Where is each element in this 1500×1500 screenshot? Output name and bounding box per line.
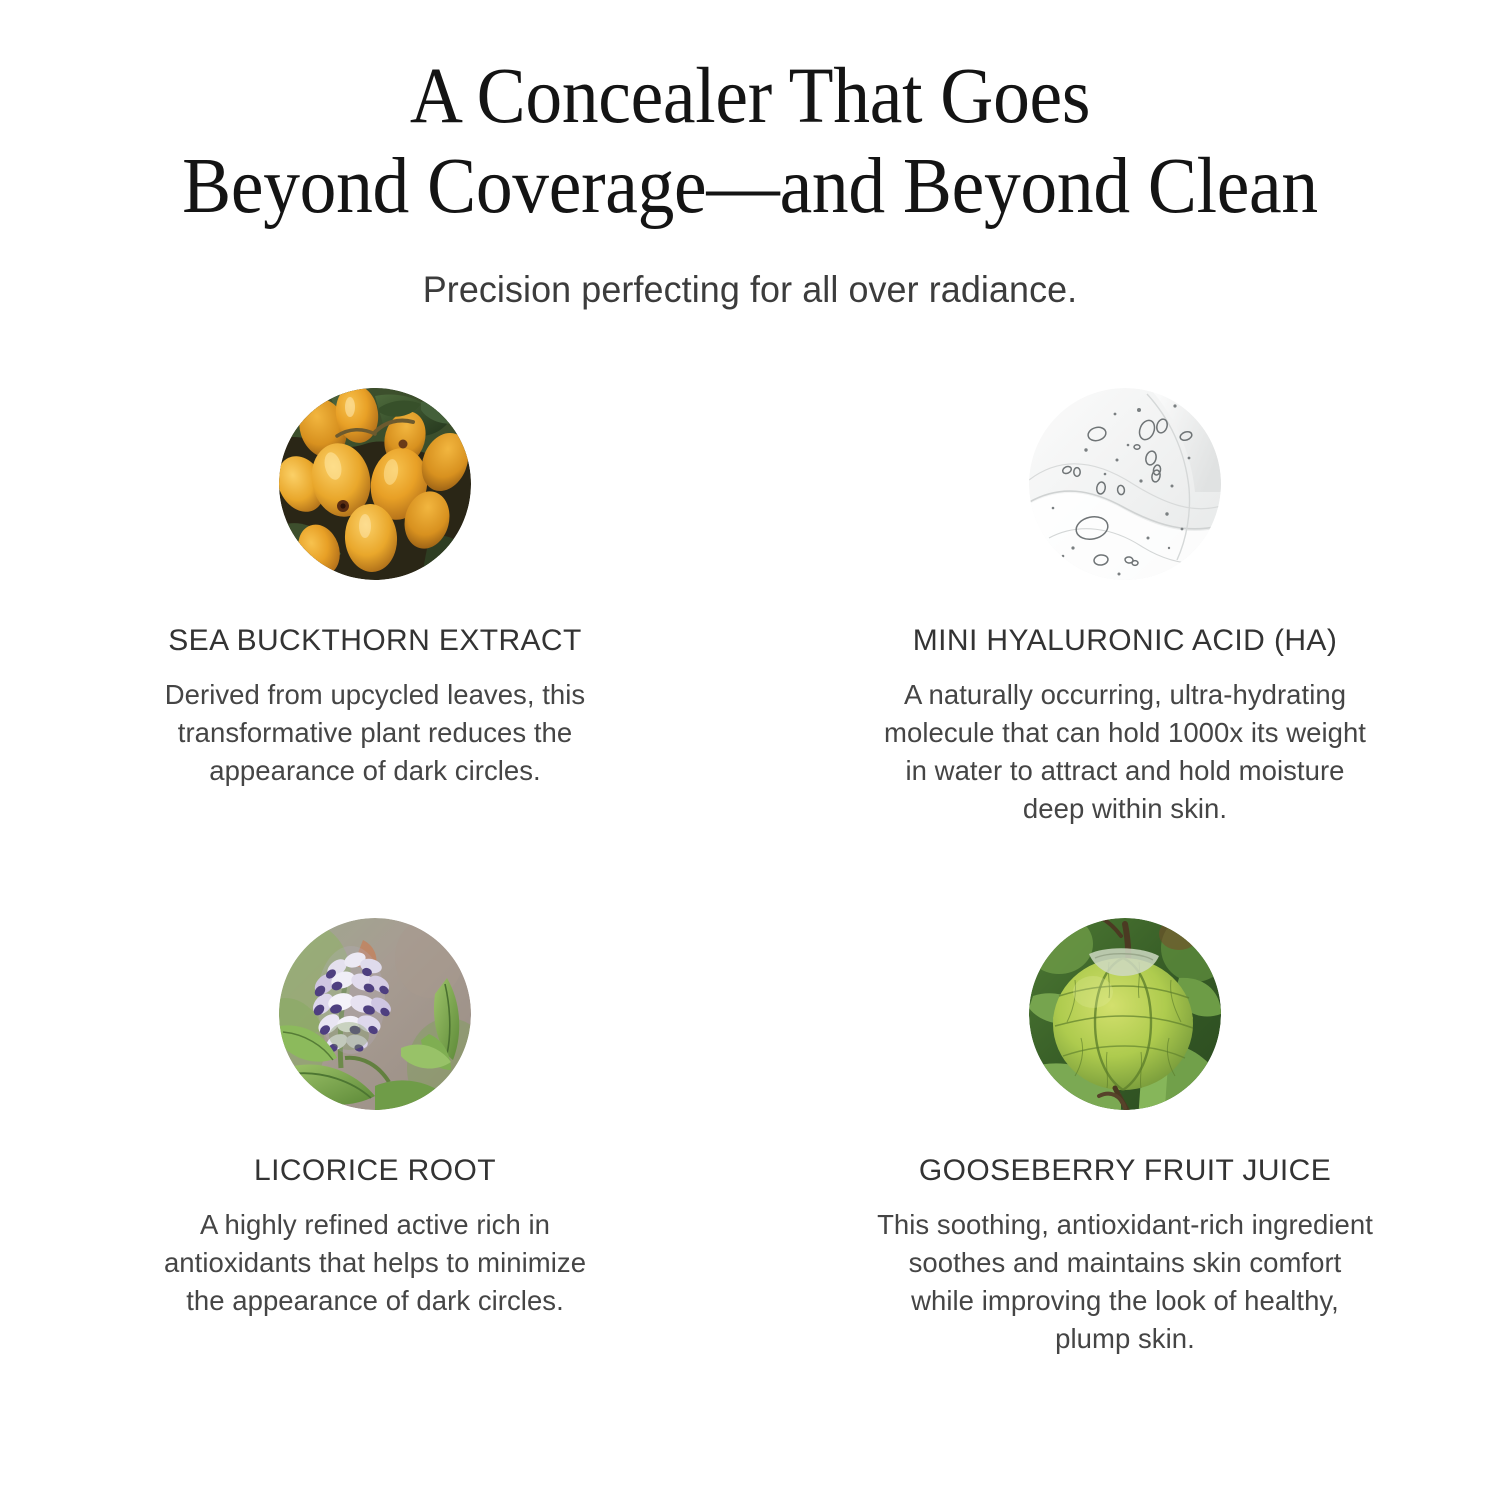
gooseberry-husk-fruit-photo <box>1029 918 1221 1110</box>
ingredient-description: A naturally occurring, ultra-hydrating m… <box>884 676 1366 828</box>
description-line: plump skin. <box>877 1320 1373 1358</box>
description-line: soothes and maintains skin comfort <box>877 1244 1373 1282</box>
page-subtitle: Precision perfecting for all over radian… <box>23 268 1478 312</box>
description-line: transformative plant reduces the <box>165 714 585 752</box>
headline-line-2: Beyond Coverage—and Beyond Clean <box>53 142 1448 232</box>
licorice-root-flower-photo <box>279 918 471 1110</box>
ingredients-grid: SEA BUCKTHORN EXTRACT Derived from upcyc… <box>0 372 1500 1432</box>
page-header: A Concealer That Goes Beyond Coverage—an… <box>0 0 1500 312</box>
ingredient-description: This soothing, antioxidant-rich ingredie… <box>877 1206 1373 1358</box>
description-line: antioxidants that helps to minimize <box>164 1244 586 1282</box>
ingredient-benefits-page: A Concealer That Goes Beyond Coverage—an… <box>0 0 1500 1500</box>
page-title: A Concealer That Goes Beyond Coverage—an… <box>53 52 1448 232</box>
description-line: while improving the look of healthy, <box>877 1282 1373 1320</box>
ingredient-card-hyaluronic-acid: MINI HYALURONIC ACID (HA) A naturally oc… <box>750 372 1500 902</box>
description-line: This soothing, antioxidant-rich ingredie… <box>877 1206 1373 1244</box>
ingredient-title: GOOSEBERRY FRUIT JUICE <box>919 1154 1331 1188</box>
description-line: in water to attract and hold moisture <box>884 752 1366 790</box>
headline-line-1: A Concealer That Goes <box>53 52 1448 142</box>
description-line: appearance of dark circles. <box>165 752 585 790</box>
description-line: A highly refined active rich in <box>164 1206 586 1244</box>
ingredient-card-licorice-root: LICORICE ROOT A highly refined active ri… <box>0 902 750 1432</box>
description-line: deep within skin. <box>884 790 1366 828</box>
description-line: molecule that can hold 1000x its weight <box>884 714 1366 752</box>
description-line: the appearance of dark circles. <box>164 1282 586 1320</box>
ingredient-card-gooseberry: GOOSEBERRY FRUIT JUICE This soothing, an… <box>750 902 1500 1432</box>
description-line: A naturally occurring, ultra-hydrating <box>884 676 1366 714</box>
description-line: Derived from upcycled leaves, this <box>165 676 585 714</box>
ingredient-card-sea-buckthorn: SEA BUCKTHORN EXTRACT Derived from upcyc… <box>0 372 750 902</box>
ingredient-description: Derived from upcycled leaves, this trans… <box>165 676 585 790</box>
ingredient-title: LICORICE ROOT <box>254 1154 496 1188</box>
hyaluronic-acid-gel-texture-photo <box>1029 388 1221 580</box>
ingredient-description: A highly refined active rich in antioxid… <box>164 1206 586 1320</box>
ingredient-title: MINI HYALURONIC ACID (HA) <box>913 624 1337 658</box>
ingredient-title: SEA BUCKTHORN EXTRACT <box>168 624 581 658</box>
sea-buckthorn-berries-photo <box>279 388 471 580</box>
